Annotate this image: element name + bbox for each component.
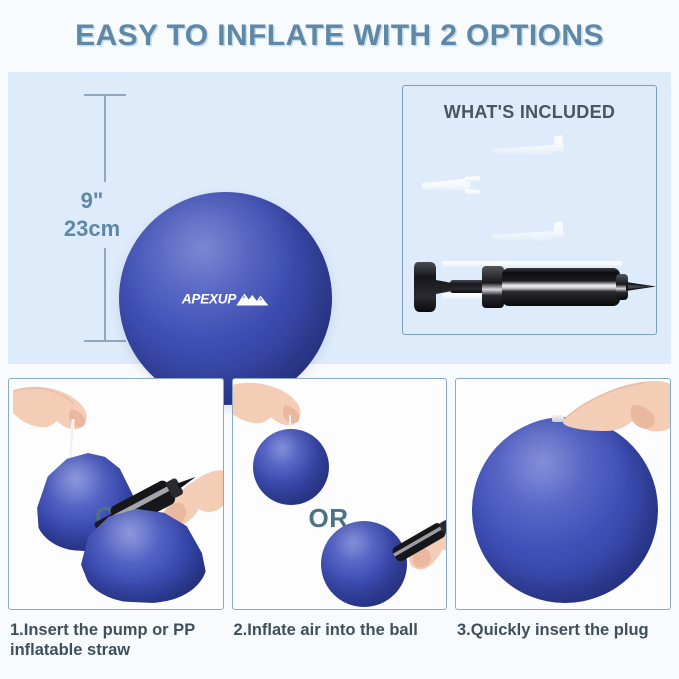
step-1-caption: 1.Insert the pump or PP inflatable straw <box>8 620 224 660</box>
hand-pump <box>412 242 662 332</box>
hand-inserting-plug-icon <box>548 379 671 445</box>
plug-remover-tool <box>422 176 480 195</box>
step-card-2: OR 2.Inflate air into the ball <box>232 378 448 671</box>
header: EASY TO INFLATE WITH 2 OPTIONS <box>0 0 679 72</box>
step-2-caption: 2.Inflate air into the ball <box>232 620 448 640</box>
dimension-centimeters: 23cm <box>44 215 140 243</box>
inflated-ball-1 <box>253 429 329 505</box>
step-card-3: 3.Quickly insert the plug <box>455 378 671 671</box>
dimension-inches: 9" <box>44 187 140 215</box>
mountain-peak-icon <box>235 291 269 306</box>
page-title: EASY TO INFLATE WITH 2 OPTIONS <box>75 19 604 53</box>
step-2-photo: OR <box>232 378 448 610</box>
dimension-labels: 9" 23cm <box>44 182 140 248</box>
step-1-photo: OR <box>8 378 224 610</box>
needle-adapter-1 <box>492 135 564 155</box>
step-card-1: OR 1.Insert the pump or PP inflatable st… <box>8 378 224 671</box>
product-overview-panel: 9" 23cm APEXUP WHAT'S INCLUDED <box>8 72 671 364</box>
product-ball: APEXUP <box>119 192 332 405</box>
needle-adapter-2 <box>492 221 564 241</box>
step-3-photo <box>455 378 671 610</box>
hand-with-straw-icon <box>13 383 117 457</box>
dimension-cap-bottom <box>84 340 126 342</box>
brand-logo-text: APEXUP <box>182 291 236 306</box>
step-3-caption: 3.Quickly insert the plug <box>455 620 671 640</box>
brand-logo: APEXUP <box>182 291 269 306</box>
steps-row: OR 1.Insert the pump or PP inflatable st… <box>8 378 671 671</box>
dimension-cap-top <box>84 94 126 96</box>
pump-in-step-2 <box>379 507 448 567</box>
